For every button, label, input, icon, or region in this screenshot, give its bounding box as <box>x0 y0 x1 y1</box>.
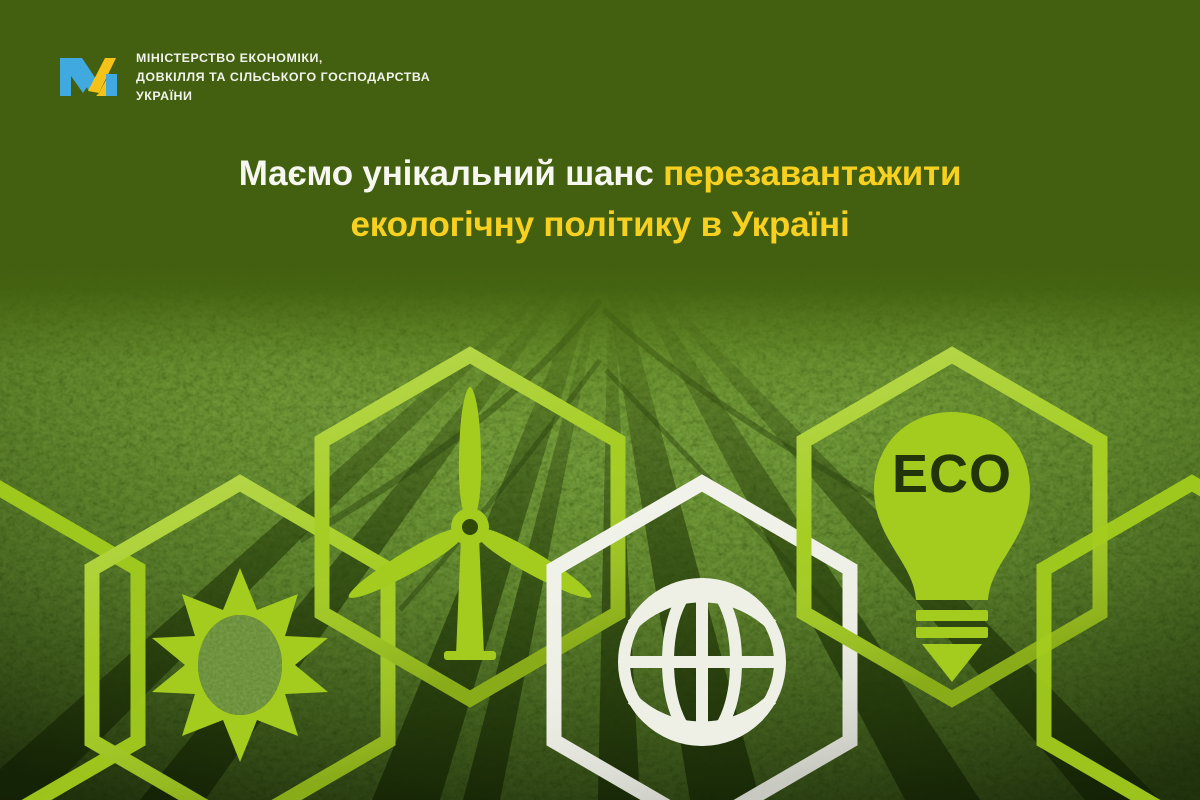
sun-core-cutout <box>0 0 1200 800</box>
ministry-header: МІНІСТЕРСТВО ЕКОНОМІКИ, ДОВКІЛЛЯ ТА СІЛЬ… <box>0 0 1200 106</box>
headline-line-2: екологічну політику в Україні <box>0 199 1200 250</box>
headline: Маємо унікальний шанс перезавантажити ек… <box>0 148 1200 250</box>
ministry-name-line-3: УКРАЇНИ <box>136 87 430 106</box>
ministry-m-logo <box>58 46 120 104</box>
ministry-name-line-2: ДОВКІЛЛЯ ТА СІЛЬСЬКОГО ГОСПОДАРСТВА <box>136 68 430 87</box>
headline-segment-plain: Маємо унікальний шанс <box>239 154 663 193</box>
ministry-name-line-1: МІНІСТЕРСТВО ЕКОНОМІКИ, <box>136 49 430 68</box>
eco-policy-banner: ECO <box>0 0 1200 800</box>
ministry-name: МІНІСТЕРСТВО ЕКОНОМІКИ, ДОВКІЛЛЯ ТА СІЛЬ… <box>136 46 430 106</box>
headline-line-1: Маємо унікальний шанс перезавантажити <box>0 148 1200 199</box>
headline-segment-accent: перезавантажити <box>663 154 961 193</box>
